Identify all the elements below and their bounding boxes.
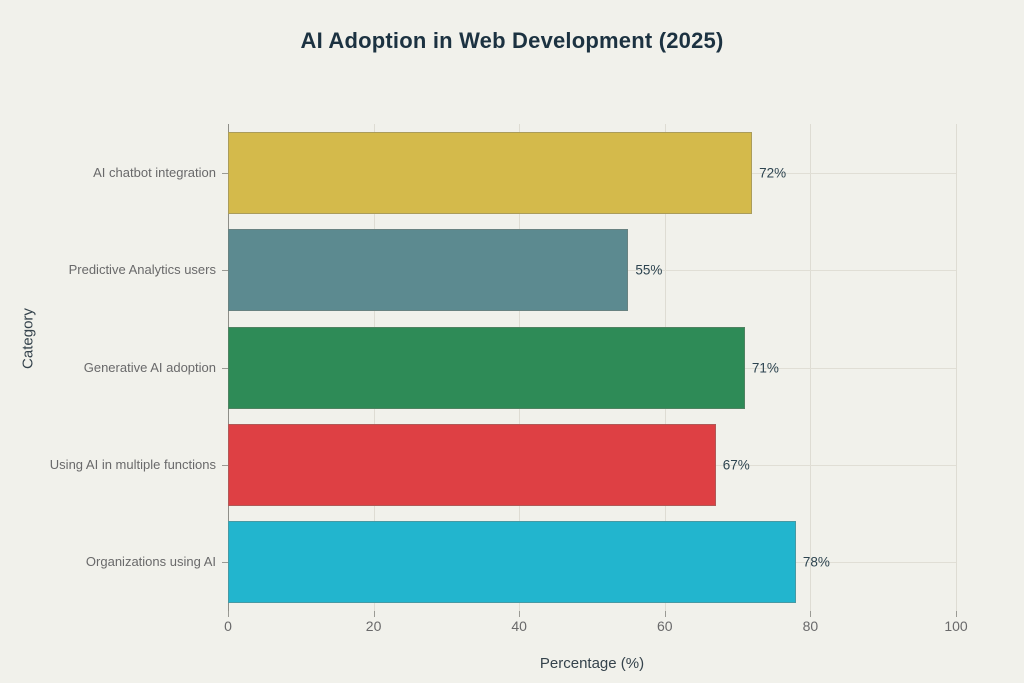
chart-title: AI Adoption in Web Development (2025) bbox=[0, 28, 1024, 54]
y-tick-mark bbox=[222, 465, 228, 466]
x-tick-mark bbox=[665, 611, 666, 617]
bar[interactable] bbox=[228, 424, 716, 506]
x-tick-label: 20 bbox=[366, 618, 382, 634]
bar-row: 72% bbox=[228, 132, 956, 214]
bar-row: 71% bbox=[228, 327, 956, 409]
bar[interactable] bbox=[228, 521, 796, 603]
y-tick-mark bbox=[222, 368, 228, 369]
x-axis-title: Percentage (%) bbox=[228, 655, 956, 672]
plot-area: 78%67%71%55%72% bbox=[228, 124, 956, 611]
bar[interactable] bbox=[228, 132, 752, 214]
bar-row: 67% bbox=[228, 424, 956, 506]
bar-value-label: 71% bbox=[752, 360, 779, 375]
y-tick-label: AI chatbot integration bbox=[0, 165, 216, 180]
x-tick-mark bbox=[374, 611, 375, 617]
x-tick-label: 100 bbox=[944, 618, 967, 634]
y-tick-mark bbox=[222, 173, 228, 174]
y-tick-mark bbox=[222, 562, 228, 563]
bar[interactable] bbox=[228, 327, 745, 409]
bar-row: 55% bbox=[228, 229, 956, 311]
x-tick-label: 60 bbox=[657, 618, 673, 634]
x-tick-mark bbox=[519, 611, 520, 617]
bar-value-label: 55% bbox=[635, 263, 662, 278]
x-tick-label: 40 bbox=[511, 618, 527, 634]
x-tick-mark bbox=[228, 611, 229, 617]
y-tick-label: Predictive Analytics users bbox=[0, 262, 216, 277]
y-tick-mark bbox=[222, 270, 228, 271]
x-gridline bbox=[956, 124, 957, 611]
x-tick-label: 80 bbox=[803, 618, 819, 634]
bar-value-label: 72% bbox=[759, 165, 786, 180]
x-tick-label: 0 bbox=[224, 618, 232, 634]
chart-figure: AI Adoption in Web Development (2025) 78… bbox=[0, 0, 1024, 683]
y-tick-label: Generative AI adoption bbox=[0, 360, 216, 375]
x-tick-mark bbox=[810, 611, 811, 617]
y-tick-label: Using AI in multiple functions bbox=[0, 457, 216, 472]
bar[interactable] bbox=[228, 229, 628, 311]
y-tick-label: Organizations using AI bbox=[0, 554, 216, 569]
bar-row: 78% bbox=[228, 521, 956, 603]
bar-value-label: 67% bbox=[723, 457, 750, 472]
bar-value-label: 78% bbox=[803, 555, 830, 570]
x-tick-mark bbox=[956, 611, 957, 617]
